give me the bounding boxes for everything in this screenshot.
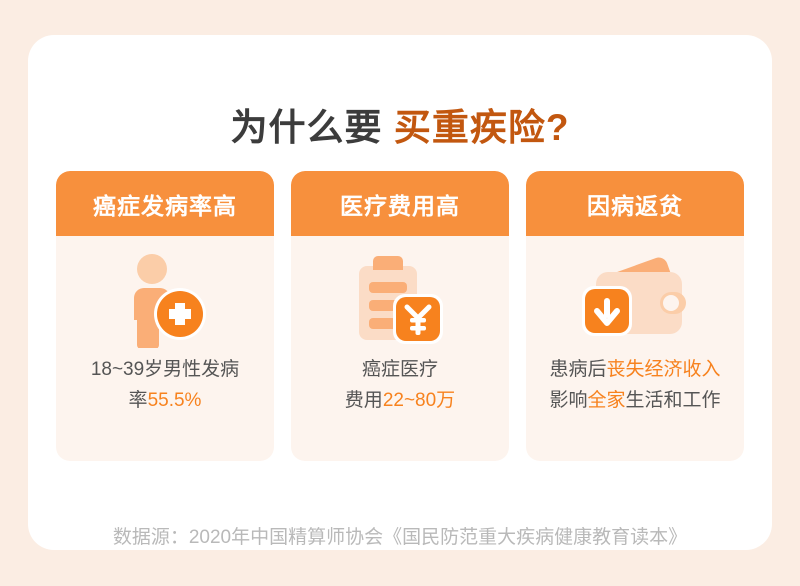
- infographic-page: 为什么要 买重疾险? 癌症发病率高 18~39岁男性发病: [0, 0, 800, 586]
- card-header-label: 医疗费用高: [340, 187, 460, 221]
- card-body-line-2-prefix: 率: [129, 390, 148, 411]
- card-body-line-1-highlight: 丧失经济收入: [607, 359, 721, 380]
- card-body-line-2: 率55.5%: [65, 385, 265, 416]
- wallet-down-arrow-icon: [576, 252, 694, 348]
- reason-card-medical-cost: 医疗费用高: [291, 171, 509, 461]
- page-title-main: 为什么要: [231, 107, 394, 148]
- card-body-line-1-prefix: 患病后: [549, 359, 606, 380]
- card-body-line-2-prefix: 费用: [345, 390, 383, 411]
- reason-card-cancer-incidence: 癌症发病率高 18~39岁男性发病 率55.5%: [56, 171, 274, 461]
- page-title-accent: 买重疾险?: [394, 107, 570, 148]
- person-medical-cross-icon: [106, 252, 224, 348]
- card-header-medical-cost: 医疗费用高: [291, 171, 509, 236]
- card-body-line-2-suffix: 生活和工作: [626, 390, 721, 411]
- card-body-medical-cost: 癌症医疗 费用22~80万: [300, 354, 500, 416]
- card-header-poverty: 因病返贫: [526, 171, 744, 236]
- card-body-line-2: 费用22~80万: [300, 385, 500, 416]
- data-source-note: 数据源：2020年中国精算师协会《国民防范重大疾病健康教育读本》: [28, 522, 772, 549]
- card-body-line-1: 患病后丧失经济收入: [535, 354, 735, 385]
- clipboard-yuan-icon: [341, 252, 459, 348]
- page-title: 为什么要 买重疾险?: [28, 97, 772, 151]
- card-body-line-2-highlight: 全家: [587, 390, 625, 411]
- card-body-line-2: 影响全家生活和工作: [535, 385, 735, 416]
- reason-card-list: 癌症发病率高 18~39岁男性发病 率55.5%: [56, 171, 744, 461]
- card-body-line-2-highlight: 22~80万: [383, 390, 455, 411]
- card-body-line-2-prefix: 影响: [549, 390, 587, 411]
- reason-card-poverty: 因病返贫 患病后丧失经济收入 影响全: [526, 171, 744, 461]
- content-panel: 为什么要 买重疾险? 癌症发病率高 18~39岁男性发病: [28, 35, 772, 550]
- card-body-line-1: 18~39岁男性发病: [65, 354, 265, 385]
- card-header-cancer-incidence: 癌症发病率高: [56, 171, 274, 236]
- card-body-line-1: 癌症医疗: [300, 354, 500, 385]
- card-body-cancer-incidence: 18~39岁男性发病 率55.5%: [65, 354, 265, 416]
- card-header-label: 因病返贫: [587, 187, 683, 221]
- card-body-line-2-highlight: 55.5%: [148, 390, 202, 411]
- card-body-poverty: 患病后丧失经济收入 影响全家生活和工作: [535, 354, 735, 416]
- card-header-label: 癌症发病率高: [93, 187, 237, 221]
